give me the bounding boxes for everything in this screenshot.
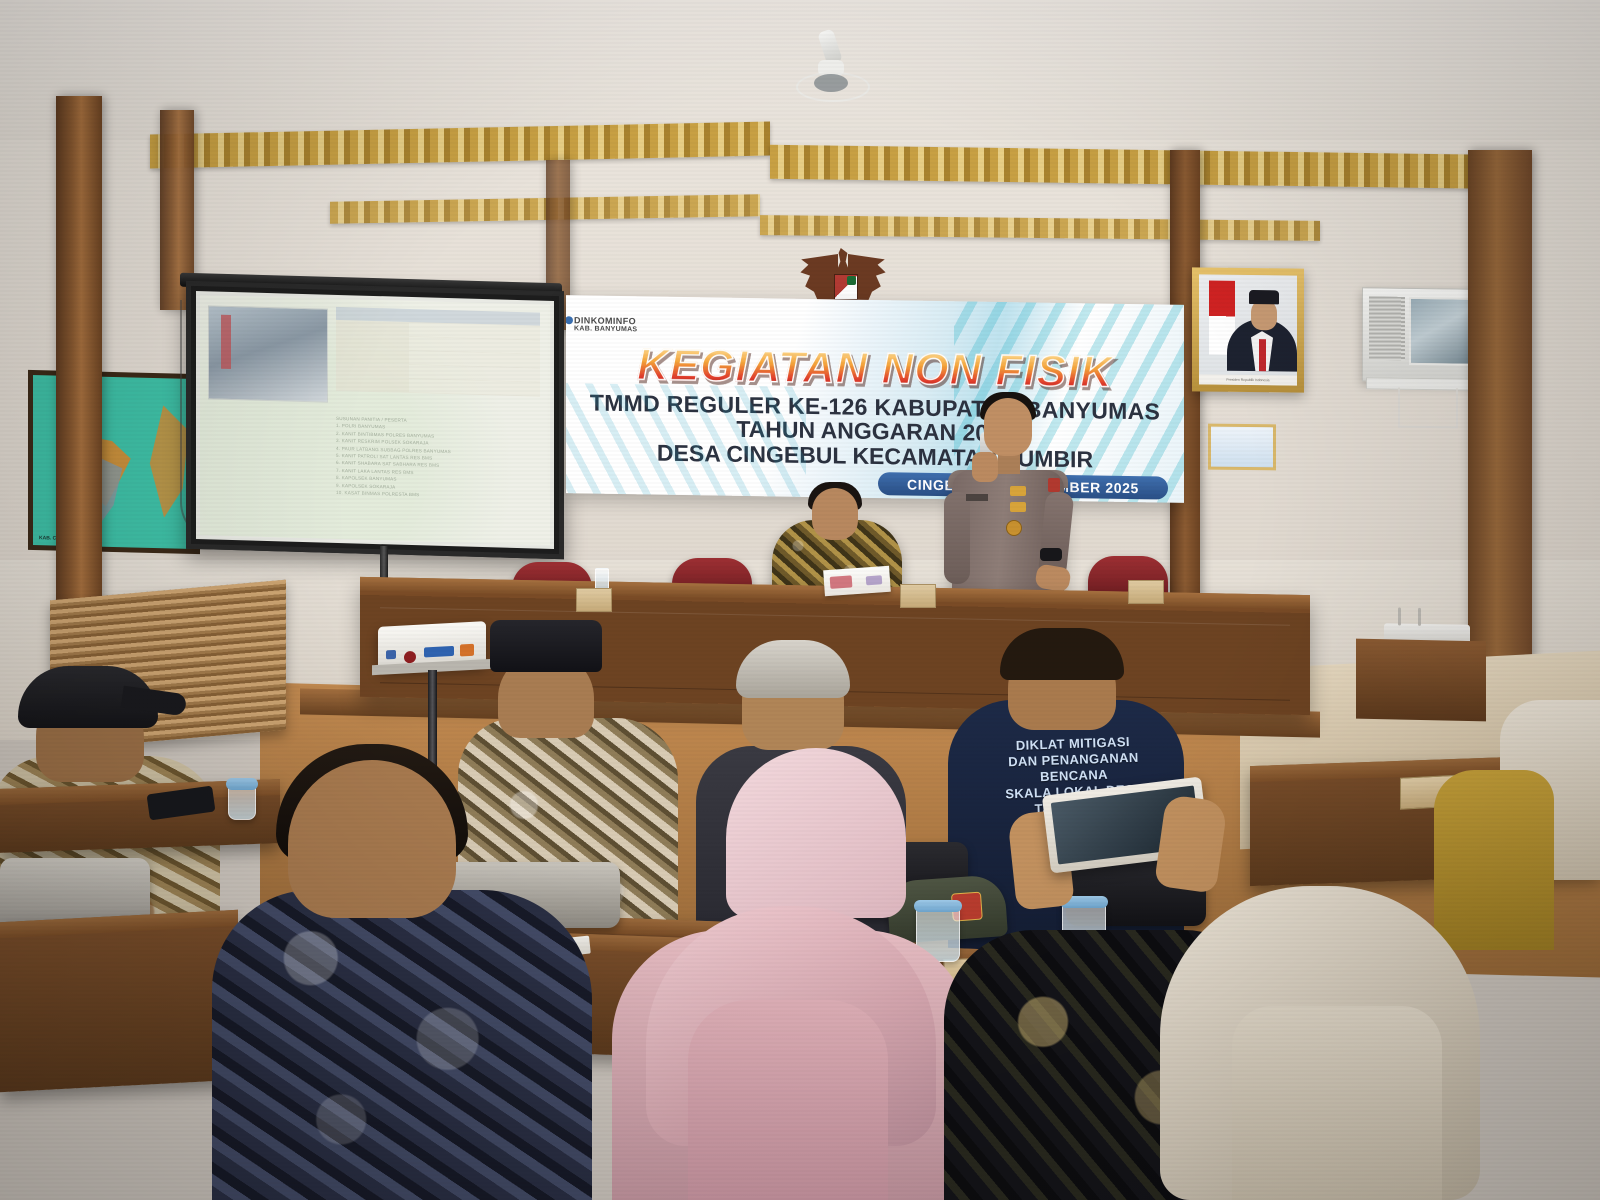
officer-shoulder-patch bbox=[1048, 478, 1060, 492]
cream-hijab-shoulders bbox=[1232, 1006, 1442, 1200]
peci-hat bbox=[490, 620, 602, 672]
projection-screen: SUSUNAN PANITIA / PESERTA 1. POLRI BANYU… bbox=[186, 281, 564, 560]
wall-mounted-tv bbox=[1362, 287, 1476, 383]
left-front-table bbox=[0, 910, 238, 1092]
wall-map-board: KAB. CILACAP bbox=[28, 370, 200, 554]
ceiling-fan bbox=[800, 30, 862, 84]
slide-table bbox=[336, 307, 540, 413]
official-head bbox=[812, 488, 858, 540]
slide-photo bbox=[208, 305, 328, 402]
portrait-caption: Presiden Republik Indonesia bbox=[1199, 374, 1297, 382]
snack-box bbox=[900, 584, 936, 608]
officer-unit-badge bbox=[1010, 502, 1026, 512]
banner-headline: KEGIATAN NON FISIK bbox=[566, 339, 1184, 399]
meeting-room-photo: KAB. CILACAP SUSUNAN PANITIA / PESERTA bbox=[0, 0, 1600, 1200]
tv-bracket bbox=[1398, 388, 1458, 429]
snack-box bbox=[576, 588, 612, 612]
officer-left-arm bbox=[944, 492, 970, 584]
wood-pillar-far-right bbox=[1468, 150, 1532, 710]
attendee-hair bbox=[1000, 628, 1124, 680]
attendee-pink-hijab-back bbox=[726, 748, 906, 918]
attendee-right-hand bbox=[1154, 794, 1228, 894]
slide-list: SUSUNAN PANITIA / PESERTA 1. POLRI BANYU… bbox=[336, 415, 542, 502]
foreground-attendee-batik bbox=[212, 890, 592, 1200]
dinkominfo-logo: DINKOMINFO KAB. BANYUMAS bbox=[574, 316, 637, 334]
framed-certificate bbox=[1208, 424, 1276, 471]
attendee-yellow-garment bbox=[1434, 770, 1554, 950]
side-table bbox=[1356, 639, 1486, 722]
pink-hijab-shoulders bbox=[688, 1000, 888, 1200]
president-portrait-frame: Presiden Republik Indonesia bbox=[1192, 267, 1304, 392]
water-cup bbox=[228, 784, 256, 820]
logo-line-2: KAB. BANYUMAS bbox=[574, 326, 637, 334]
documents-on-table bbox=[823, 566, 891, 597]
officer-rank-badge bbox=[1010, 486, 1026, 496]
officer-nametag bbox=[966, 494, 988, 501]
presentation-slide: SUSUNAN PANITIA / PESERTA 1. POLRI BANYU… bbox=[200, 295, 550, 545]
logo-dot-icon bbox=[566, 316, 573, 324]
officer-mic-hand bbox=[972, 452, 998, 482]
officer-wristwatch bbox=[1040, 548, 1062, 561]
officer-head bbox=[984, 398, 1032, 456]
officer-round-patch bbox=[1006, 520, 1022, 536]
event-banner: DINKOMINFO KAB. BANYUMAS KEGIATAN NON FI… bbox=[566, 295, 1184, 503]
attendee-head bbox=[288, 760, 456, 918]
snack-box bbox=[1128, 580, 1164, 604]
